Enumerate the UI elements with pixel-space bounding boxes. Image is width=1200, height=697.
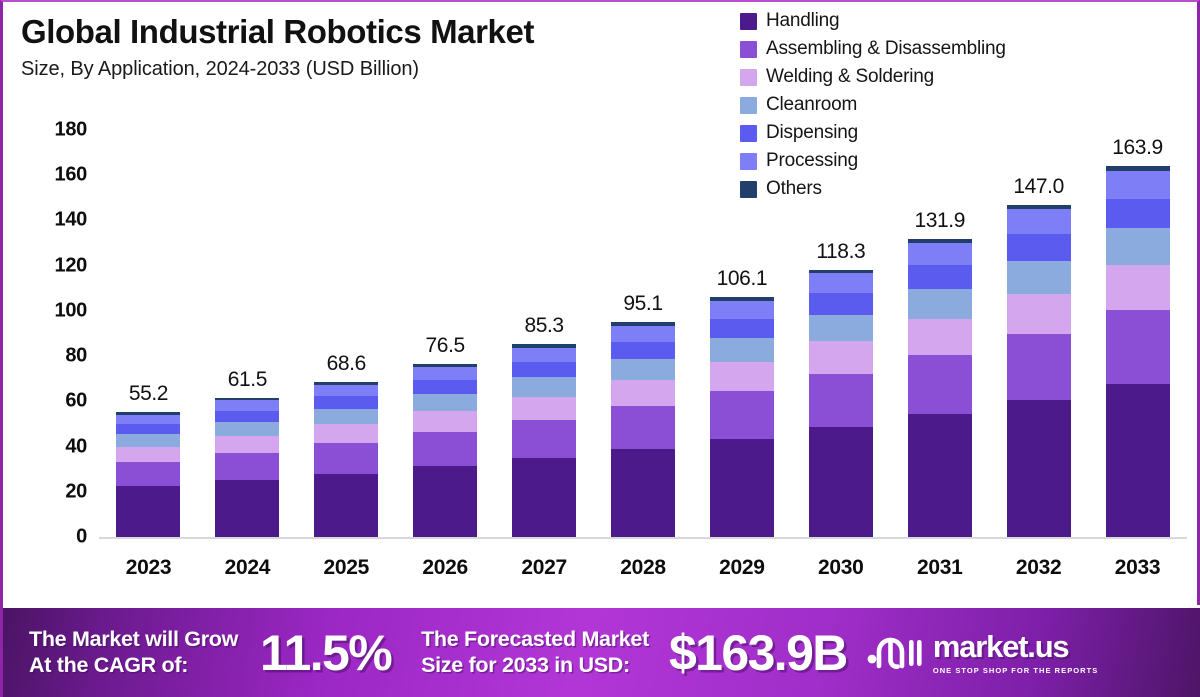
bar-column-2032[interactable]: 147.0 — [1007, 135, 1071, 537]
bar-segment[interactable] — [116, 462, 180, 487]
y-axis-tick-label: 80 — [65, 345, 87, 368]
bar-value-label: 163.9 — [1112, 136, 1163, 160]
bar-segment[interactable] — [116, 434, 180, 446]
cagr-caption-line2: At the CAGR of: — [29, 653, 238, 678]
legend-swatch-icon — [740, 13, 757, 30]
bar-segment[interactable] — [908, 243, 972, 265]
stacked-bar[interactable] — [710, 297, 774, 537]
bar-segment[interactable] — [215, 436, 279, 453]
bar-segment[interactable] — [215, 422, 279, 436]
y-axis-tick-label: 160 — [55, 164, 87, 187]
bar-column-2029[interactable]: 106.1 — [710, 227, 774, 537]
bar-segment[interactable] — [116, 486, 180, 537]
forecast-caption: The Forecasted Market Size for 2033 in U… — [421, 627, 649, 678]
market-us-logo-icon — [865, 636, 923, 670]
y-axis-tick-label: 0 — [76, 526, 87, 549]
brand-name: market.us — [933, 631, 1098, 662]
bar-segment[interactable] — [710, 338, 774, 362]
bar-segment[interactable] — [413, 411, 477, 432]
legend-item-label: Welding & Soldering — [766, 66, 934, 88]
bar-column-2028[interactable]: 95.1 — [611, 252, 675, 537]
stacked-bar[interactable] — [215, 398, 279, 537]
bar-segment[interactable] — [1106, 171, 1170, 199]
bar-segment[interactable] — [1007, 261, 1071, 294]
bar-column-2031[interactable]: 131.9 — [908, 169, 972, 537]
bar-segment[interactable] — [512, 420, 576, 459]
y-axis-tick-label: 40 — [65, 435, 87, 458]
bar-segment[interactable] — [710, 391, 774, 439]
bar-segment[interactable] — [809, 293, 873, 314]
bar-segment[interactable] — [611, 380, 675, 406]
bar-segment[interactable] — [314, 396, 378, 408]
bar-segment[interactable] — [1106, 199, 1170, 229]
cagr-caption-line1: The Market will Grow — [29, 627, 238, 652]
bar-segment[interactable] — [809, 427, 873, 537]
bar-value-label: 76.5 — [426, 334, 465, 358]
infographic-page: Global Industrial Robotics Market Size, … — [0, 0, 1200, 697]
x-axis-tick-label: 2025 — [324, 556, 370, 580]
bar-segment[interactable] — [1007, 334, 1071, 400]
bar-column-2030[interactable]: 118.3 — [809, 200, 873, 537]
stacked-bar[interactable] — [116, 412, 180, 537]
bar-segment[interactable] — [1106, 310, 1170, 384]
brand-text: market.us ONE STOP SHOP FOR THE REPORTS — [933, 631, 1098, 675]
page-title: Global Industrial Robotics Market — [21, 14, 741, 51]
bar-segment[interactable] — [1007, 234, 1071, 261]
forecast-caption-line2: Size for 2033 in USD: — [421, 653, 649, 678]
bar-segment[interactable] — [314, 424, 378, 443]
bar-value-label: 147.0 — [1013, 175, 1064, 199]
bar-segment[interactable] — [413, 367, 477, 380]
stacked-bar[interactable] — [314, 382, 378, 537]
forecast-caption-line1: The Forecasted Market — [421, 627, 649, 652]
bar-value-label: 68.6 — [327, 352, 366, 376]
stacked-bar[interactable] — [1106, 166, 1170, 537]
y-axis-tick-label: 60 — [65, 390, 87, 413]
stacked-bar[interactable] — [1007, 205, 1071, 537]
legend-item-welding-soldering[interactable]: Welding & Soldering — [740, 64, 1006, 90]
bar-segment[interactable] — [1007, 400, 1071, 537]
legend-item-assembling-disassembling[interactable]: Assembling & Disassembling — [740, 36, 1006, 62]
bar-value-label: 55.2 — [129, 382, 168, 406]
bar-segment[interactable] — [215, 480, 279, 537]
bar-column-2024[interactable]: 61.5 — [215, 328, 279, 537]
bar-segment[interactable] — [611, 406, 675, 449]
bar-segment[interactable] — [908, 289, 972, 319]
y-axis: 020406080100120140160180 — [3, 112, 99, 542]
stacked-bar[interactable] — [908, 239, 972, 537]
bar-segment[interactable] — [908, 355, 972, 415]
bar-value-label: 85.3 — [524, 314, 563, 338]
stacked-bar[interactable] — [611, 322, 675, 537]
bar-segment[interactable] — [710, 439, 774, 537]
x-axis-tick-label: 2023 — [126, 556, 172, 580]
bar-segment[interactable] — [611, 326, 675, 342]
bar-column-2025[interactable]: 68.6 — [314, 312, 378, 537]
x-axis-tick-label: 2031 — [917, 556, 963, 580]
legend-swatch-icon — [740, 69, 757, 86]
bar-column-2033[interactable]: 163.9 — [1106, 96, 1170, 537]
bar-segment[interactable] — [512, 362, 576, 377]
bar-segment[interactable] — [512, 458, 576, 537]
legend-item-label: Handling — [766, 10, 839, 32]
bar-segment[interactable] — [1106, 384, 1170, 537]
bar-segment[interactable] — [611, 342, 675, 359]
bar-column-2027[interactable]: 85.3 — [512, 274, 576, 537]
x-axis-tick-label: 2029 — [719, 556, 765, 580]
x-axis-tick-label: 2030 — [818, 556, 864, 580]
cagr-block: The Market will Grow At the CAGR of: 11.… — [29, 624, 391, 682]
bar-segment[interactable] — [1106, 228, 1170, 265]
bar-segment[interactable] — [1007, 209, 1071, 234]
bar-segment[interactable] — [611, 359, 675, 380]
bar-segment[interactable] — [809, 374, 873, 428]
bar-segment[interactable] — [809, 341, 873, 373]
bar-value-label: 61.5 — [228, 368, 267, 392]
legend-item-handling[interactable]: Handling — [740, 8, 1006, 34]
brand-tagline: ONE STOP SHOP FOR THE REPORTS — [933, 666, 1098, 675]
forecast-block: The Forecasted Market Size for 2033 in U… — [421, 624, 847, 682]
bar-segment[interactable] — [710, 362, 774, 391]
bar-group: 55.2202361.5202468.6202576.5202685.32027… — [99, 112, 1187, 602]
bar-segment[interactable] — [512, 348, 576, 362]
bar-segment[interactable] — [413, 466, 477, 537]
bar-segment[interactable] — [116, 415, 180, 424]
bar-segment[interactable] — [710, 301, 774, 319]
brand-logo: market.us ONE STOP SHOP FOR THE REPORTS — [865, 631, 1098, 675]
bar-value-label: 131.9 — [914, 209, 965, 233]
y-axis-tick-label: 100 — [55, 299, 87, 322]
x-axis-tick-label: 2026 — [422, 556, 468, 580]
forecast-value: $163.9B — [669, 624, 847, 682]
bar-segment[interactable] — [314, 385, 378, 397]
y-axis-tick-label: 20 — [65, 480, 87, 503]
y-axis-tick-label: 120 — [55, 254, 87, 277]
cagr-caption: The Market will Grow At the CAGR of: — [29, 627, 238, 678]
bar-segment[interactable] — [116, 447, 180, 462]
legend-swatch-icon — [740, 41, 757, 58]
bar-segment[interactable] — [116, 424, 180, 434]
bar-segment[interactable] — [512, 397, 576, 420]
bar-segment[interactable] — [809, 273, 873, 293]
cagr-value: 11.5% — [260, 624, 391, 682]
bar-segment[interactable] — [314, 443, 378, 474]
legend-item-label: Assembling & Disassembling — [766, 38, 1006, 60]
bar-segment[interactable] — [215, 453, 279, 481]
x-axis-tick-label: 2027 — [521, 556, 567, 580]
y-axis-tick-label: 140 — [55, 209, 87, 232]
bar-segment[interactable] — [809, 315, 873, 342]
footer-banner: The Market will Grow At the CAGR of: 11.… — [3, 605, 1200, 697]
bar-segment[interactable] — [710, 319, 774, 338]
bar-segment[interactable] — [314, 409, 378, 425]
bar-value-label: 118.3 — [816, 240, 865, 264]
chart-subtitle: Size, By Application, 2024-2033 (USD Bil… — [21, 58, 741, 81]
bar-column-2026[interactable]: 76.5 — [413, 294, 477, 537]
bar-segment[interactable] — [215, 400, 279, 410]
bar-segment[interactable] — [413, 432, 477, 467]
bar-segment[interactable] — [1106, 265, 1170, 310]
bar-value-label: 95.1 — [623, 292, 662, 316]
x-axis-tick-label: 2028 — [620, 556, 666, 580]
bar-segment[interactable] — [1007, 294, 1071, 334]
bar-value-label: 106.1 — [717, 267, 768, 291]
bar-segment[interactable] — [908, 265, 972, 289]
y-axis-tick-label: 180 — [55, 119, 87, 142]
x-axis-tick-label: 2032 — [1016, 556, 1062, 580]
legend-swatch-icon — [740, 97, 757, 114]
stacked-bar[interactable] — [512, 344, 576, 537]
bar-segment[interactable] — [314, 474, 378, 537]
bar-segment[interactable] — [908, 414, 972, 537]
stacked-bar[interactable] — [413, 364, 477, 537]
bar-segment[interactable] — [512, 377, 576, 396]
bar-segment[interactable] — [611, 449, 675, 537]
bar-column-2023[interactable]: 55.2 — [116, 342, 180, 537]
plot-area: 020406080100120140160180 55.2202361.5202… — [3, 112, 1200, 602]
bar-segment[interactable] — [215, 411, 279, 422]
stacked-bar[interactable] — [809, 270, 873, 537]
x-axis-tick-label: 2024 — [225, 556, 271, 580]
chart-header: Global Industrial Robotics Market Size, … — [21, 14, 741, 81]
x-axis-tick-label: 2033 — [1115, 556, 1161, 580]
bar-segment[interactable] — [413, 394, 477, 411]
bar-segment[interactable] — [908, 319, 972, 355]
bar-segment[interactable] — [413, 380, 477, 394]
